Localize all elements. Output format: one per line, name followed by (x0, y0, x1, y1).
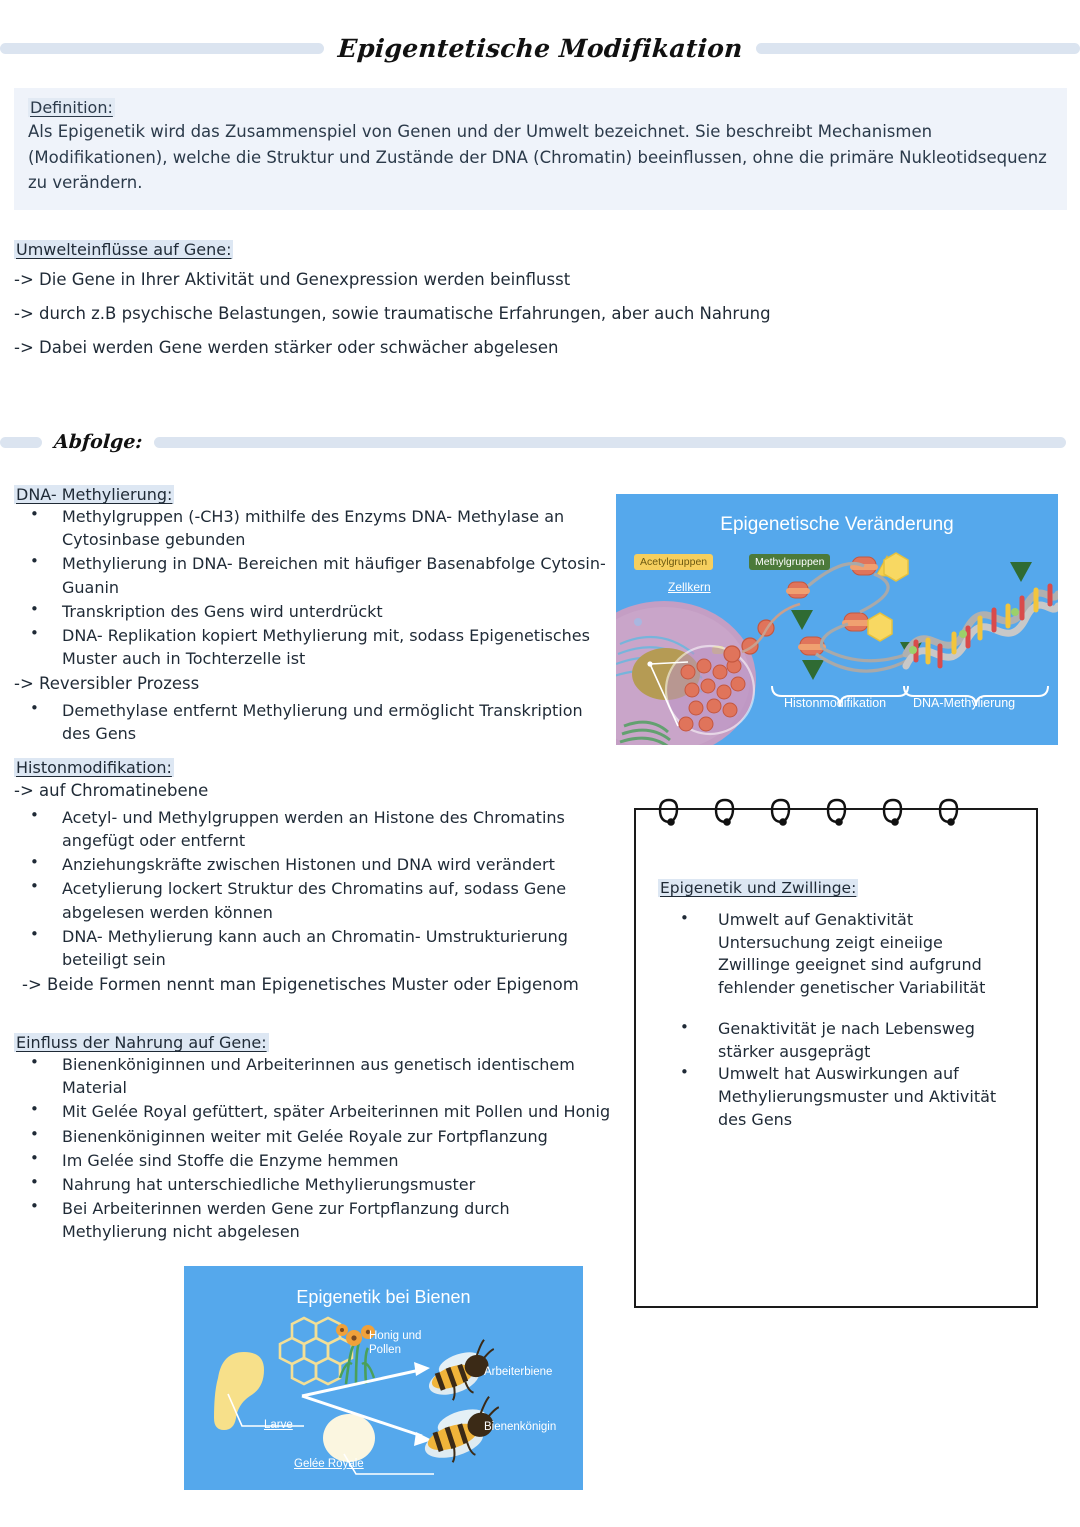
umwelt-line-3: -> Dabei werden Gene werden stärker oder… (14, 336, 774, 361)
label-honig-und-pollen: Honig und Pollen (369, 1329, 421, 1358)
label-gelee-royale: Gelée Royale (294, 1458, 364, 1470)
definition-box: Definition: Als Epigenetik wird das Zusa… (14, 88, 1067, 210)
list-item: Methylierung in DNA- Bereichen mit häufi… (14, 552, 614, 598)
figure-epigenetik-bei-bienen: Epigenetik bei Bienen Honig und Pollen A… (184, 1266, 583, 1490)
figure-epigenetische-veraenderung: Epigenetische Veränderung Acetylgruppen … (616, 494, 1058, 745)
page-title: Epigentetische Modifikation (337, 34, 744, 63)
list-item: Genaktivität je nach Lebensweg stärker a… (658, 1018, 1010, 1063)
histonmodifikation-list: Acetyl- und Methylgruppen werden an Hist… (14, 806, 614, 971)
figure-epi-title: Epigenetische Veränderung (616, 514, 1058, 536)
definition-text: Als Epigenetik wird das Zusammenspiel vo… (28, 119, 1053, 196)
notepad-heading: Epigenetik und Zwillinge: (658, 879, 858, 897)
histonmodifikation-arrow-bottom: -> Beide Formen nennt man Epigenetisches… (14, 973, 614, 998)
list-item: DNA- Replikation kopiert Methylierung mi… (14, 624, 614, 670)
dna-methylierung-heading: DNA- Methylierung: (14, 485, 174, 504)
page-header: Epigentetische Modifikation (0, 28, 1080, 68)
list-item: DNA- Methylierung kann auch an Chromatin… (14, 925, 614, 971)
dna-methylierung-section: DNA- Methylierung: Methylgruppen (-CH3) … (14, 485, 614, 746)
list-item: Methylgruppen (-CH3) mithilfe des Enzyms… (14, 505, 614, 551)
list-item: Im Gelée sind Stoffe die Enzyme hemmen (14, 1149, 614, 1172)
abfolge-rule-left (0, 437, 42, 448)
list-item: Nahrung hat unterschiedliche Methylierun… (14, 1173, 614, 1196)
list-item: Acetylierung lockert Struktur des Chroma… (14, 877, 614, 923)
dna-methylierung-list-after: Demethylase entfernt Methylierung und er… (14, 699, 614, 745)
header-rule-left (0, 43, 324, 54)
nahrung-heading: Einfluss der Nahrung auf Gene: (14, 1033, 269, 1052)
nahrung-section: Einfluss der Nahrung auf Gene: Bienenkön… (14, 1033, 614, 1245)
abfolge-rule-right (154, 437, 1066, 448)
list-item: Transkription des Gens wird unterdrückt (14, 600, 614, 623)
list-item: Umwelt hat Auswirkungen auf Methylierung… (658, 1063, 1010, 1131)
abfolge-section-bar: Abfolge: (0, 425, 1080, 459)
list-item: Bienenköniginnen weiter mit Gelée Royale… (14, 1125, 614, 1148)
umwelt-line-2: -> durch z.B psychische Belastungen, sow… (14, 302, 774, 327)
label-dna-methylierung: DNA-Methylierung (913, 696, 1015, 710)
list-item: Demethylase entfernt Methylierung und er… (14, 699, 614, 745)
histonmodifikation-heading: Histonmodifikation: (14, 758, 174, 777)
list-item: Bienenköniginnen und Arbeiterinnen aus g… (14, 1053, 614, 1099)
umwelteinfluesse-heading: Umwelteinflüsse auf Gene: (14, 240, 233, 259)
umwelteinfluesse-section: Umwelteinflüsse auf Gene: -> Die Gene in… (14, 240, 774, 369)
label-larve: Larve (264, 1419, 293, 1431)
figure-bees-title: Epigenetik bei Bienen (184, 1287, 583, 1308)
abfolge-label: Abfolge: (53, 431, 143, 453)
list-item: Bei Arbeiterinnen werden Gene zur Fortpf… (14, 1197, 614, 1243)
umwelt-line-1: -> Die Gene in Ihrer Aktivität und Genex… (14, 268, 774, 293)
label-bienenkoenigin: Bienenkönigin (484, 1421, 556, 1433)
dna-methylierung-list: Methylgruppen (-CH3) mithilfe des Enzyms… (14, 505, 614, 670)
header-rule-right (756, 43, 1080, 54)
list-item: Umwelt auf Genaktivität Untersuchung zei… (658, 909, 1010, 1000)
histonmodifikation-section: Histonmodifikation: -> auf Chromatineben… (14, 758, 614, 1000)
list-item: Acetyl- und Methylgruppen werden an Hist… (14, 806, 614, 852)
legend-methylgruppen: Methylgruppen (749, 554, 830, 570)
legend-acetylgruppen: Acetylgruppen (634, 554, 713, 570)
histonmodifikation-arrow-top: -> auf Chromatinebene (14, 779, 614, 804)
notepad-epigenetik-zwillinge: Epigenetik und Zwillinge: Umwelt auf Gen… (634, 808, 1038, 1308)
dna-methylierung-arrow: -> Reversibler Prozess (14, 672, 614, 697)
list-item: Mit Gelée Royal gefüttert, später Arbeit… (14, 1100, 614, 1123)
label-zellkern: Zellkern (668, 580, 711, 594)
notepad-list: Umwelt auf Genaktivität Untersuchung zei… (658, 909, 1010, 1131)
label-arbeiterbiene: Arbeiterbiene (484, 1366, 552, 1378)
definition-heading: Definition: (28, 98, 115, 117)
label-histonmodifikation: Histonmodifikation (784, 696, 886, 710)
list-item: Anziehungskräfte zwischen Histonen und D… (14, 853, 614, 876)
nahrung-list: Bienenköniginnen und Arbeiterinnen aus g… (14, 1053, 614, 1244)
